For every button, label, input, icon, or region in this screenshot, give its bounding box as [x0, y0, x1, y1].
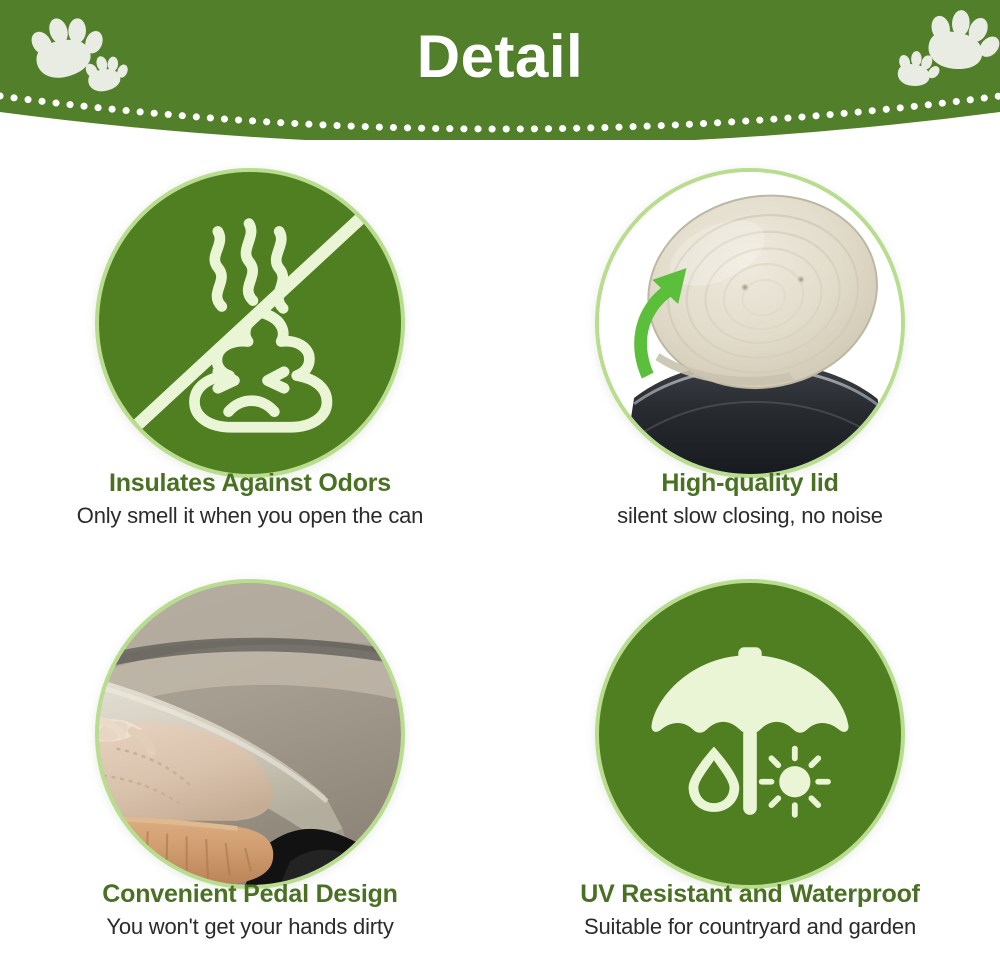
feature-title: UV Resistant and Waterproof [500, 880, 1000, 910]
feature-card-insulates-against-odors: Insulates Against Odors Only smell it wh… [0, 140, 500, 551]
lid-photo-illustration [599, 172, 901, 474]
page-title: Detail [0, 27, 1000, 87]
feature-title: Convenient Pedal Design [0, 880, 500, 910]
no-odor-icon [95, 168, 405, 478]
feature-media [595, 168, 905, 478]
feature-caption: Convenient Pedal Design You won't get yo… [0, 880, 500, 940]
feature-card-high-quality-lid: High-quality lid silent slow closing, no… [500, 140, 1000, 551]
pedal-photo-illustration [99, 583, 401, 885]
feature-title: Insulates Against Odors [0, 469, 500, 499]
feature-subtitle: Only smell it when you open the can [0, 503, 500, 529]
feature-grid: Insulates Against Odors Only smell it wh… [0, 140, 1000, 962]
umbrella-glyph [599, 583, 901, 885]
umbrella-sun-droplet-icon [595, 579, 905, 889]
feature-card-convenient-pedal-design: Convenient Pedal Design You won't get yo… [0, 551, 500, 962]
feature-caption: Insulates Against Odors Only smell it wh… [0, 469, 500, 529]
feature-media [95, 168, 405, 478]
feature-media [95, 579, 405, 889]
feature-subtitle: silent slow closing, no noise [500, 503, 1000, 529]
feature-subtitle: Suitable for countryard and garden [500, 914, 1000, 940]
no-odor-glyph [99, 172, 401, 474]
feature-caption: UV Resistant and Waterproof Suitable for… [500, 880, 1000, 940]
trash-can-open-lid-photo [595, 168, 905, 478]
feature-subtitle: You won't get your hands dirty [0, 914, 500, 940]
feature-title: High-quality lid [500, 469, 1000, 499]
feature-caption: High-quality lid silent slow closing, no… [500, 469, 1000, 529]
page-header-banner: Detail [0, 0, 1000, 140]
feature-card-uv-resistant-and-waterproof: UV Resistant and Waterproof Suitable for… [500, 551, 1000, 962]
foot-on-pedal-photo [95, 579, 405, 889]
feature-media [595, 579, 905, 889]
